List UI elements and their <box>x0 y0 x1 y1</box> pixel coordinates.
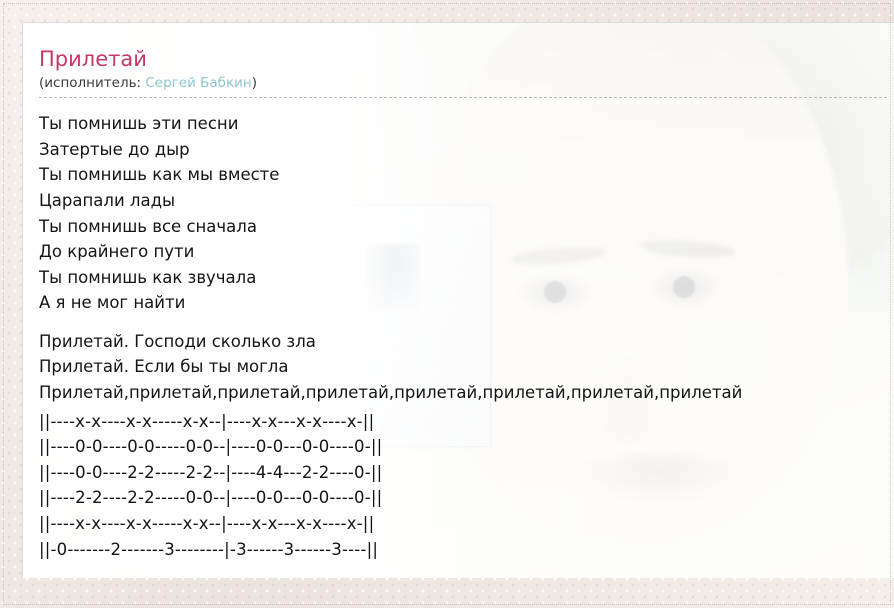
page-title: Прилетай <box>39 47 894 71</box>
artist-byline: (исполнитель: Сергей Бабкин) <box>39 75 887 98</box>
content-area: Прилетай (исполнитель: Сергей Бабкин) Ты… <box>23 23 894 562</box>
lyrics-chorus: Прилетай. Господи сколько зла Прилетай. … <box>39 329 894 406</box>
lyrics-verse-1: Ты помнишь эти песни Затертые до дыр Ты … <box>39 111 894 316</box>
lyrics-card: Прилетай (исполнитель: Сергей Бабкин) Ты… <box>22 22 894 578</box>
page-frame: Прилетай (исполнитель: Сергей Бабкин) Ты… <box>0 0 894 608</box>
guitar-tablature: ||----x-x----x-x-----x-x--|----x-x---x-x… <box>39 409 894 563</box>
artist-link[interactable]: Сергей Бабкин <box>145 75 251 91</box>
byline-suffix-label: ) <box>252 75 257 91</box>
byline-prefix-label: (исполнитель: <box>39 75 145 91</box>
